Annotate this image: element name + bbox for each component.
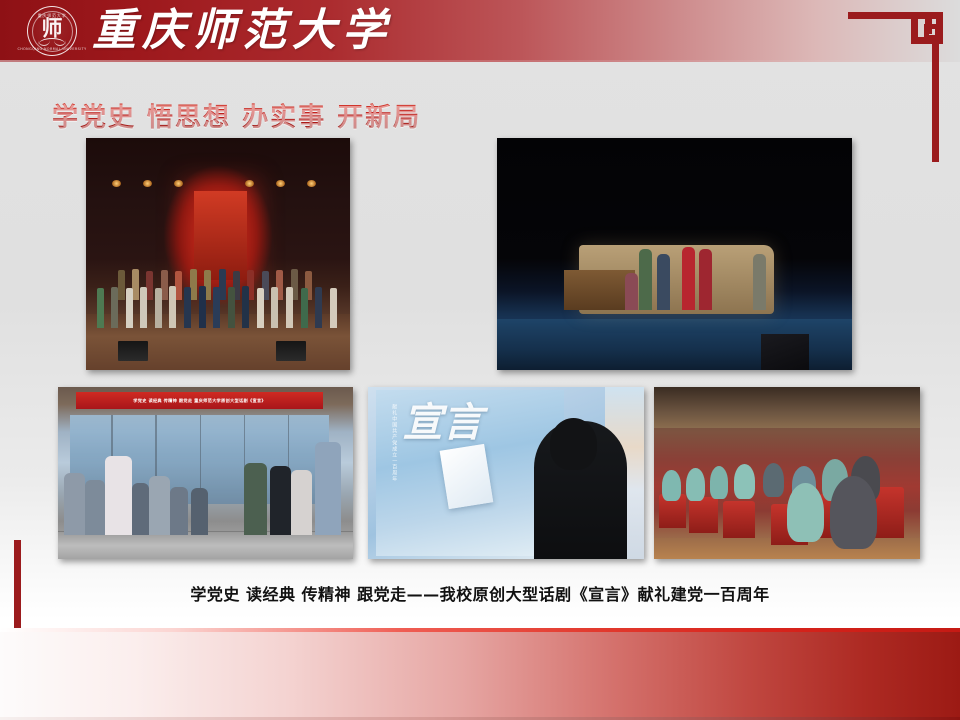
- entrance-banner: 学党史 读经典 传精神 跟党走 重庆师范大学原创大型话剧《宣言》: [76, 392, 324, 409]
- stage-speaker-left: [118, 341, 148, 361]
- photo-curtain-call: [86, 138, 350, 370]
- footer-band: [0, 632, 960, 720]
- slide-canvas: 重庆师范大学 师 CHONGQING NORMAL UNIVERSITY 重庆师…: [0, 0, 960, 720]
- entrance-steps: [58, 531, 353, 559]
- student-head: [550, 418, 597, 470]
- photo-audience: [654, 387, 920, 559]
- photo-poster-viewer: 献礼中国共产党成立一百周年 宣言: [368, 387, 644, 559]
- header-band: 重庆师范大学 师 CHONGQING NORMAL UNIVERSITY 重庆师…: [0, 0, 960, 62]
- photo-entrance-crowd: 学党史 读经典 传精神 跟党走 重庆师范大学原创大型话剧《宣言》: [58, 387, 353, 559]
- poster-side-text: 献礼中国共产党成立一百周年: [391, 404, 398, 482]
- seal-book-icon: [38, 38, 66, 45]
- stage-speaker-right: [276, 341, 306, 361]
- stage-lights: [107, 180, 329, 194]
- stage-speaker: [761, 334, 809, 370]
- seal-glyph: 师: [42, 18, 63, 39]
- poster-title: 宣言: [403, 400, 483, 446]
- seal-ring: 重庆师范大学 师 CHONGQING NORMAL UNIVERSITY: [27, 6, 77, 56]
- university-name: 重庆师范大学: [92, 2, 392, 60]
- university-emblem-icon: 重庆师范大学 师 CHONGQING NORMAL UNIVERSITY: [21, 6, 83, 58]
- poster-book-illustration: [439, 443, 493, 509]
- page-title: 学党史 悟思想 办实事 开新局: [52, 97, 421, 134]
- photo-table-scene: [497, 138, 852, 370]
- seal-arc-bottom-text: CHONGQING NORMAL UNIVERSITY: [17, 47, 86, 51]
- auditorium-balcony: [654, 387, 920, 428]
- caption-bar: 学党史 读经典 传精神 跟党走——我校原创大型话剧《宣言》献礼建党一百周年: [0, 576, 960, 610]
- cast-front-row: [97, 277, 340, 328]
- caption-text: 学党史 读经典 传精神 跟党走——我校原创大型话剧《宣言》献礼建党一百周年: [190, 581, 769, 605]
